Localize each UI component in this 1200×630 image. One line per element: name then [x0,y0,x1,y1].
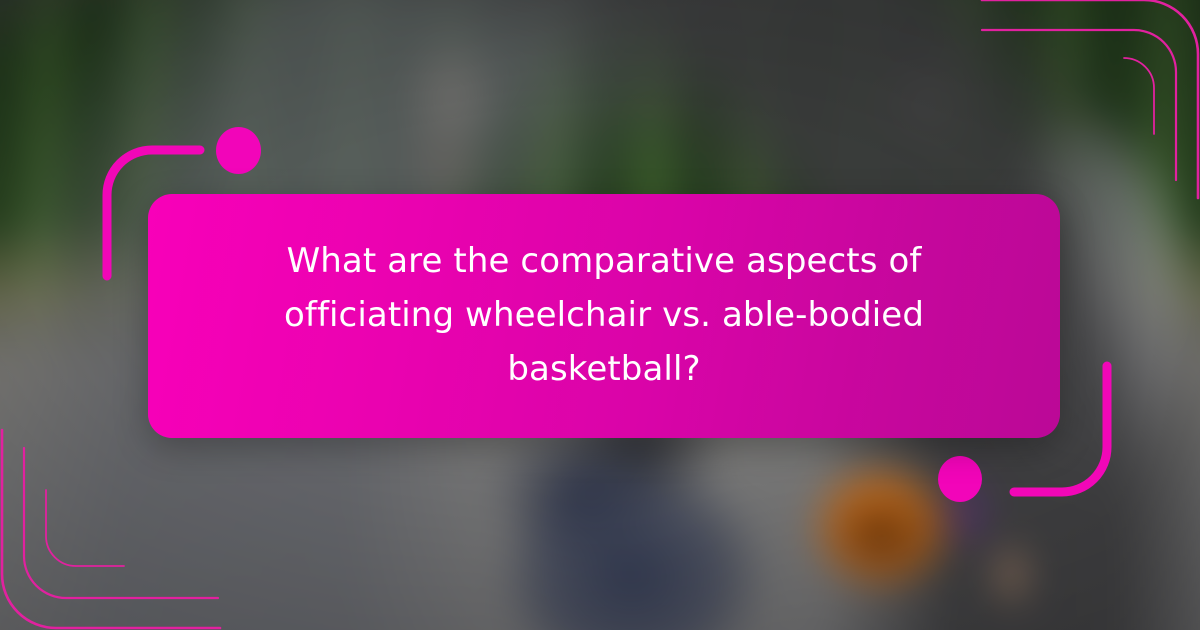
social-card-canvas: What are the comparative aspects of offi… [0,0,1200,630]
question-card: What are the comparative aspects of offi… [148,194,1060,438]
question-text: What are the comparative aspects of offi… [209,235,999,396]
dot-top-left [216,127,261,174]
dot-bottom-right [938,456,982,502]
